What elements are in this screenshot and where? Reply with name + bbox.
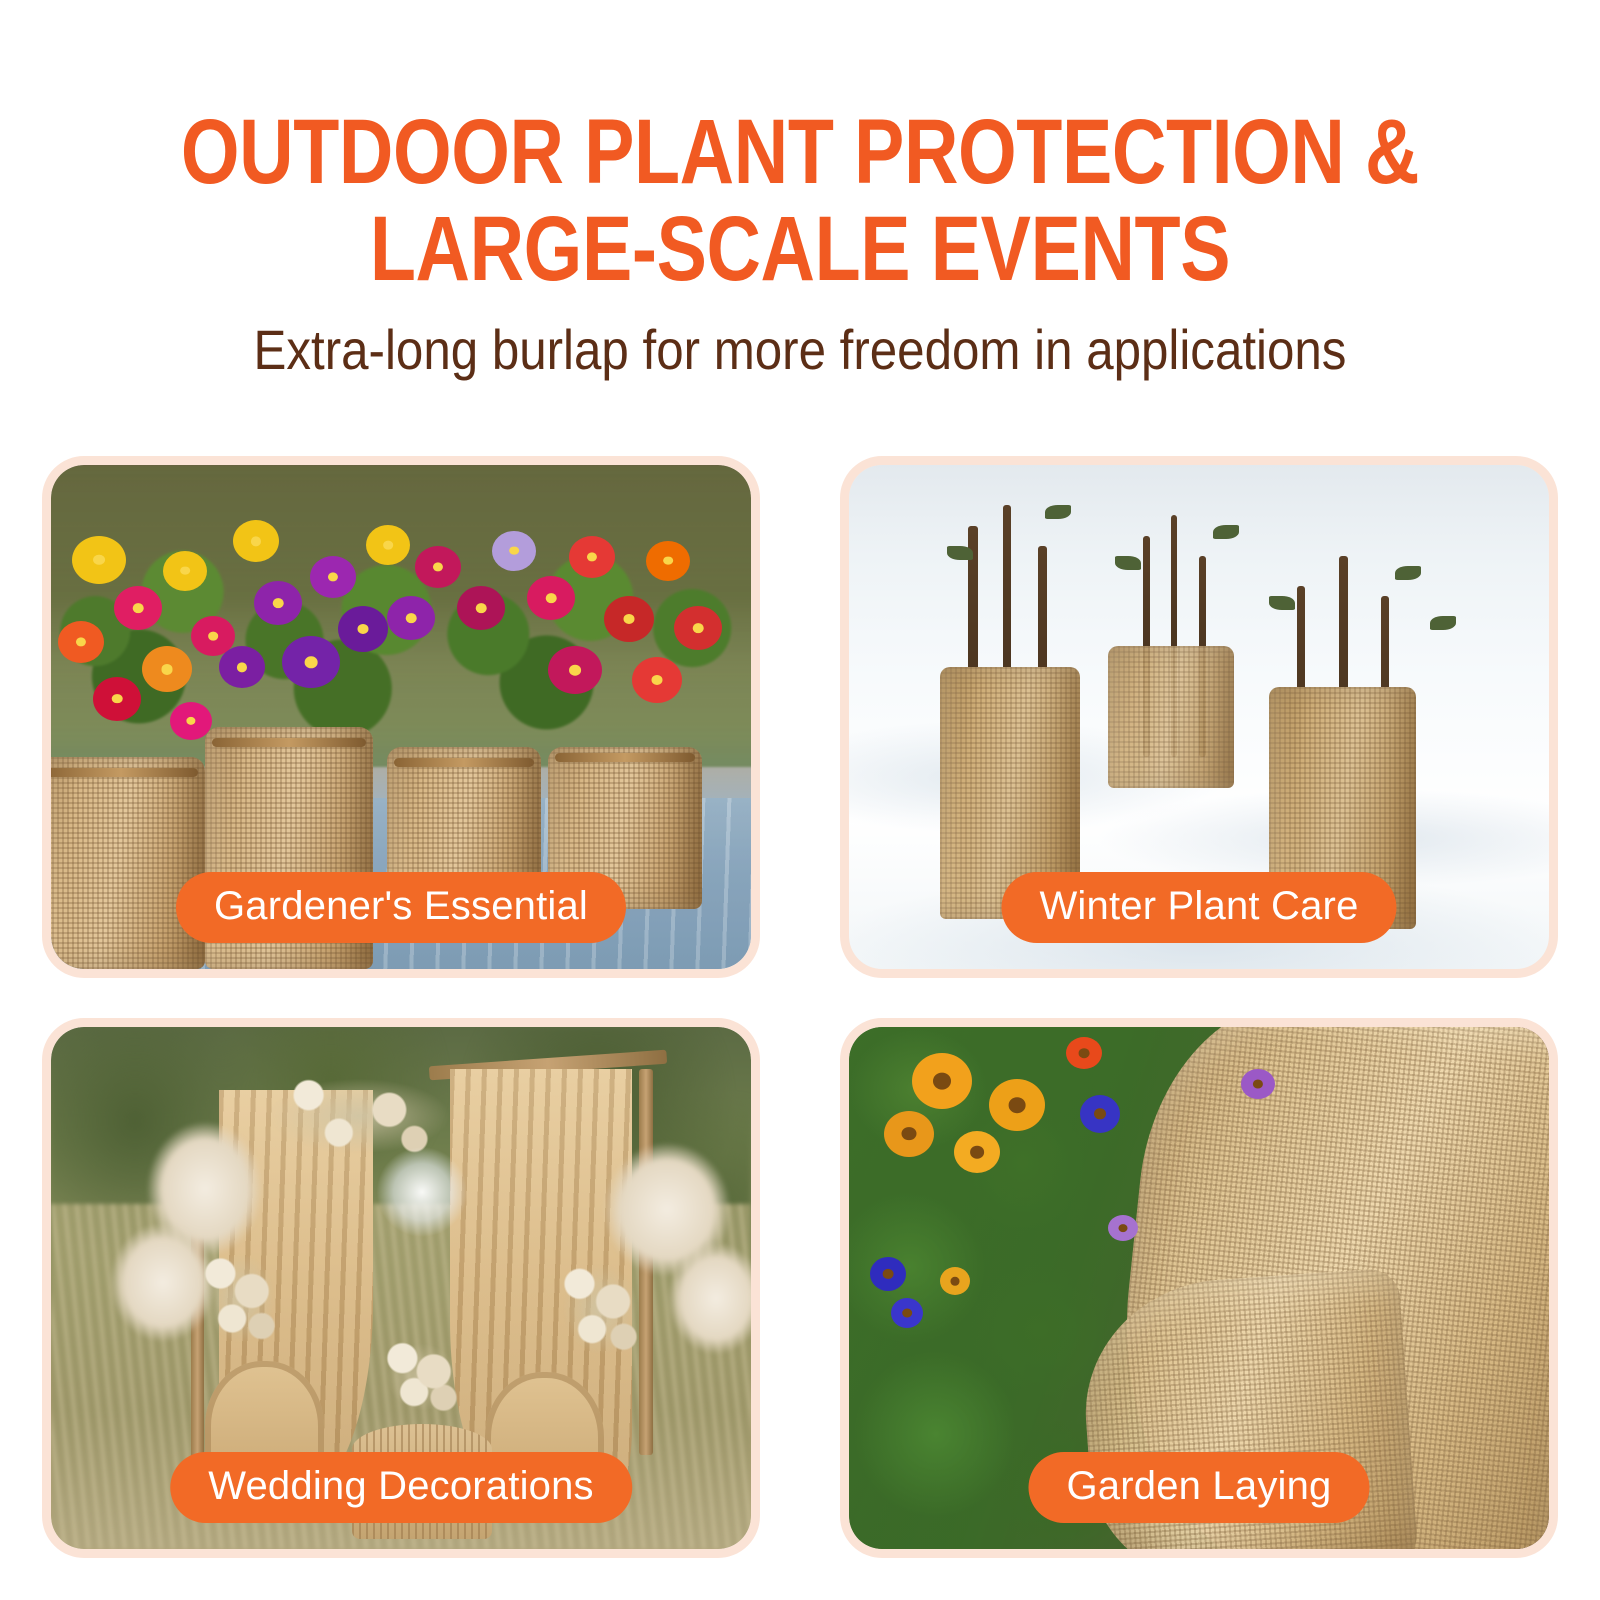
panel-gardeners-essential: Gardener's Essential bbox=[42, 456, 760, 978]
title-line-1: OUTDOOR PLANT PROTECTION & bbox=[181, 101, 1419, 203]
orange-daisy bbox=[940, 1267, 970, 1295]
orange-daisy bbox=[989, 1079, 1045, 1131]
purple-bloom bbox=[1241, 1069, 1275, 1099]
pansy-bloom bbox=[604, 596, 654, 642]
pansy-bloom bbox=[310, 556, 356, 598]
panel-garden-laying: Garden Laying bbox=[840, 1018, 1558, 1558]
sapling-leaf bbox=[947, 546, 973, 560]
burlap-sack bbox=[51, 757, 205, 969]
page-subtitle: Extra-long burlap for more freedom in ap… bbox=[96, 319, 1504, 381]
panel-badge-garden-laying[interactable]: Garden Laying bbox=[1028, 1452, 1369, 1523]
sack-twine-tie bbox=[394, 758, 534, 767]
header: OUTDOOR PLANT PROTECTION & LARGE-SCALE E… bbox=[0, 0, 1600, 381]
table-floral-vase bbox=[373, 1330, 471, 1424]
crystal-chandelier bbox=[359, 1142, 485, 1267]
pansy-bloom bbox=[492, 531, 536, 571]
panel-badge-wedding-decorations[interactable]: Wedding Decorations bbox=[170, 1452, 632, 1523]
orange-daisy bbox=[884, 1111, 934, 1157]
panel-wedding-decorations: Wedding Decorations bbox=[42, 1018, 760, 1558]
pansy-bloom bbox=[163, 551, 207, 591]
pansy-bloom bbox=[254, 581, 302, 625]
pansy-bloom bbox=[58, 621, 104, 663]
pansy-bloom bbox=[674, 606, 722, 650]
pansy-bloom bbox=[415, 546, 461, 588]
purple-bloom bbox=[1108, 1215, 1138, 1241]
pansy-bloom bbox=[457, 586, 505, 630]
sack-twine-tie bbox=[212, 738, 366, 747]
panel-badge-gardeners-essential[interactable]: Gardener's Essential bbox=[176, 872, 626, 943]
pansy-bloom bbox=[282, 636, 340, 688]
orange-daisy bbox=[912, 1053, 972, 1109]
sack-twine-tie bbox=[51, 768, 198, 777]
blue-cornflower bbox=[1080, 1095, 1120, 1133]
dried-floral-cluster-right bbox=[548, 1246, 653, 1371]
sapling-leaf bbox=[1115, 556, 1141, 570]
infographic-page: OUTDOOR PLANT PROTECTION & LARGE-SCALE E… bbox=[0, 0, 1600, 1600]
sapling-leaf bbox=[1269, 596, 1295, 610]
sack-twine-tie bbox=[555, 753, 695, 762]
pansy-bloom bbox=[527, 576, 575, 620]
burlap-tree-wrap bbox=[1108, 646, 1234, 787]
sapling-leaf bbox=[1395, 566, 1421, 580]
pansy-bloom bbox=[72, 536, 126, 584]
pansy-bloom bbox=[646, 541, 690, 581]
title-line-2: LARGE-SCALE EVENTS bbox=[144, 201, 1456, 298]
dried-floral-cluster-left bbox=[191, 1236, 289, 1361]
pansy-bloom bbox=[93, 677, 141, 721]
pampas-grass-right-lower bbox=[653, 1225, 751, 1371]
pansy-bloom bbox=[632, 657, 682, 703]
panel-badge-winter-plant-care[interactable]: Winter Plant Care bbox=[1001, 872, 1396, 943]
pansy-bloom bbox=[569, 536, 615, 578]
pansy-bloom bbox=[338, 606, 388, 652]
blue-cornflower bbox=[870, 1257, 906, 1291]
pansy-bloom bbox=[387, 596, 435, 640]
feature-panel-grid: Gardener's Essential bbox=[42, 456, 1558, 1558]
page-title: OUTDOOR PLANT PROTECTION & LARGE-SCALE E… bbox=[144, 104, 1456, 297]
pansy-bloom bbox=[114, 586, 162, 630]
panel-winter-plant-care: Winter Plant Care bbox=[840, 456, 1558, 978]
